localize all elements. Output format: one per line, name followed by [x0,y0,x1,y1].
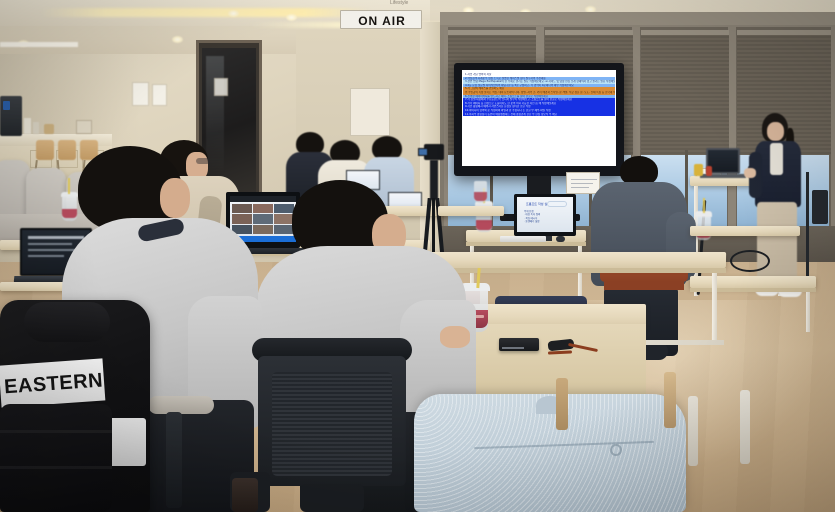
jacket-lower [0,404,112,512]
wood-chair-back [58,140,76,160]
slide-line: 11.마지막 종합정리 동반아 매용생성하는 전체 종합관계 한단 부 한장 정… [463,113,615,117]
projector-screen-display: 1.사업 개요 명확히 서술2.핵심정책·사례분석 영상 노복로 설명한 케이스… [462,70,616,166]
chair-seat[interactable] [604,282,684,290]
fleece-logo [610,444,622,456]
cable [806,172,809,284]
mouse[interactable] [556,236,565,242]
chair-post [300,484,364,512]
wood-chair-back [36,140,54,160]
blind-valance [545,30,633,35]
desk-row-2 [406,252,726,268]
instructor-face [767,122,784,141]
black-notebook[interactable] [499,338,539,351]
student-hand [440,326,470,348]
video-tile [253,225,273,234]
iced-coffee-cup [474,181,487,203]
jacket-hood [24,302,110,342]
video-tile [253,204,273,213]
tape-roll [694,164,703,176]
blind-valance [448,30,536,35]
video-tile [274,204,294,213]
desk-leg [806,292,810,332]
instructor-inner-top [770,143,783,175]
desk-right-mid [690,276,816,288]
blind-valance [641,30,729,35]
instructor-hand [744,168,756,178]
classroom-photo: ON AIR Lifestyle [0,0,835,512]
video-tile [253,214,273,223]
student-face [160,178,190,218]
paper-tray [76,120,92,134]
chair-arm[interactable] [148,396,214,414]
glasses [196,158,210,164]
desk-right-back [690,226,800,236]
downlight-icon [228,10,239,17]
blind-valance [737,30,831,35]
marker [706,166,712,176]
wall-sign [566,172,600,194]
wall-notice [132,82,149,106]
video-tile [232,204,252,213]
desk-leg [688,396,698,466]
basket [44,124,54,134]
keyboard[interactable] [500,236,546,242]
desk-edge [690,288,816,292]
iced-coffee-cup [62,196,77,221]
camera-flip-screen [418,148,428,156]
downlight-icon [172,36,183,43]
wall-notice [152,84,167,106]
chair-arm-post [166,412,182,508]
video-grid [232,204,294,234]
straw [703,198,705,213]
lifestyle-label: Lifestyle [390,0,408,6]
on-air-label: ON AIR [341,14,423,28]
jacket-brand-text: EASTERN [3,369,103,399]
laptop-left[interactable] [230,196,296,242]
desk-small [438,206,504,216]
window-header-beam [440,12,835,25]
straw [68,178,70,194]
cove-light [40,8,370,17]
monitor-body: 주제 선정· 대상 독자 정의· 핵심 메시지· 톤앤매너 설정 [524,210,568,224]
wall-notice [214,78,228,96]
cup-label [476,220,492,230]
wood-chair-leg [556,378,568,430]
cup-label [62,209,77,218]
linear-light [0,42,78,47]
cup-label [474,192,487,201]
monitor-callout [547,201,567,207]
window-blind [641,30,729,155]
desk-leg [740,390,750,464]
downlight-icon [286,14,297,21]
video-tile [232,214,252,223]
bag-handle [232,478,258,512]
wood-chair-leg [664,372,676,428]
whiteboard-panel [350,88,390,136]
video-tile [274,214,294,223]
bottle [24,118,31,134]
video-tile [274,225,294,234]
tripod-head [430,160,438,200]
cable-loop [730,250,770,272]
monitor-body-line: · 톤앤매너 설정 [524,220,568,223]
coffee-machine-display [3,101,10,110]
desk-leg [712,273,717,345]
cup-stack [33,122,39,134]
jacket-white-band: EASTERN [0,358,105,407]
slide-content: 1.사업 개요 명확히 서술2.핵심정책·사례분석 영상 노복로 설명한 케이스… [462,70,616,116]
equipment-case [812,190,828,224]
jacket-seam [0,430,112,433]
desk-edge [466,242,586,246]
on-air-sign: ON AIR [340,10,422,29]
monitor-screen[interactable]: 프롬프트 작성 실습 주제 선정· 대상 독자 정의· 핵심 메시지· 톤앤매너… [517,197,573,232]
tripod-leg [432,198,435,256]
jacket-seam [0,466,112,469]
mesh-chair-mesh [272,372,392,476]
